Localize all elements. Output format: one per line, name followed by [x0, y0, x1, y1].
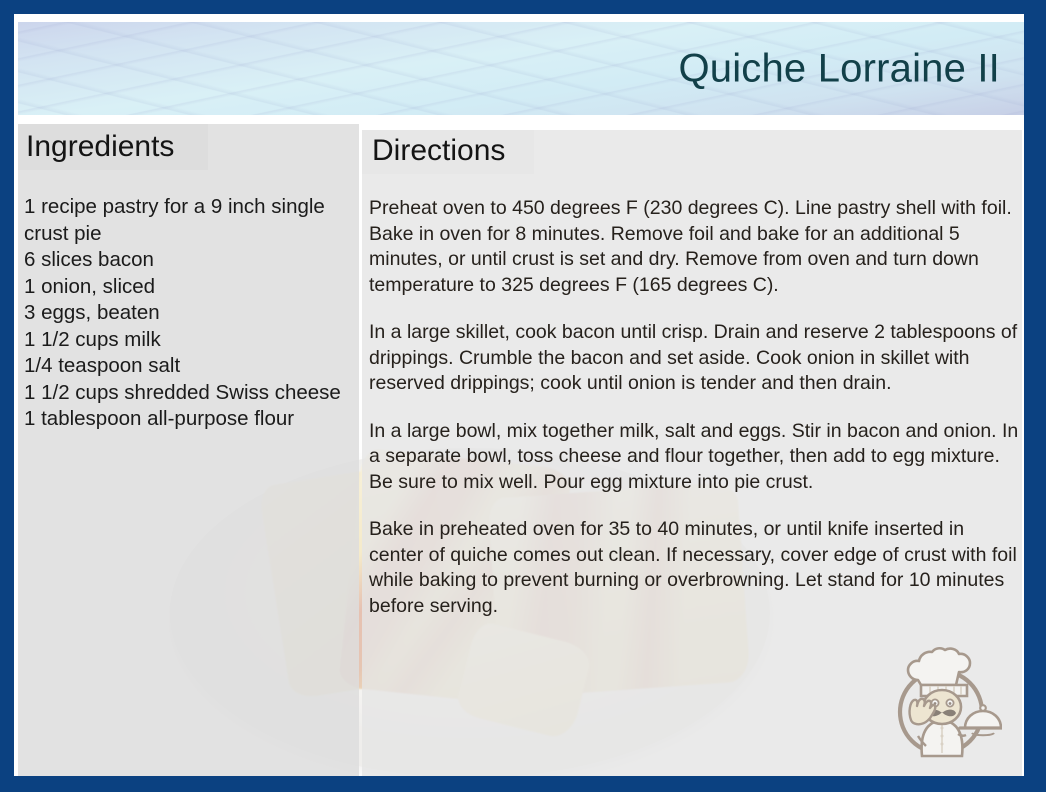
ingredient-item: 6 slices bacon: [24, 247, 350, 274]
ingredients-list-items: 1 recipe pastry for a 9 inch single crus…: [24, 194, 350, 433]
recipe-title: Quiche Lorraine II: [678, 46, 1000, 91]
direction-step: In a large bowl, mix together milk, salt…: [369, 419, 1019, 496]
ingredients-heading: Ingredients: [26, 130, 174, 164]
direction-step: In a large skillet, cook bacon until cri…: [369, 320, 1019, 397]
title-banner: Quiche Lorraine II: [18, 22, 1024, 115]
ingredient-item: 1/4 teaspoon salt: [24, 353, 350, 380]
ingredient-item: 1 recipe pastry for a 9 inch single crus…: [24, 194, 350, 247]
ingredient-item: 1 onion, sliced: [24, 274, 350, 301]
directions-heading: Directions: [372, 134, 505, 168]
ingredient-item: 1 tablespoon all-purpose flour: [24, 406, 350, 433]
direction-step: Bake in preheated oven for 35 to 40 minu…: [369, 517, 1019, 619]
chef-mascot-logo: [880, 644, 1002, 766]
card-inner: Quiche Lorraine II Ingredients 1 recipe …: [14, 14, 1024, 776]
ingredient-item: 1 1/2 cups shredded Swiss cheese: [24, 380, 350, 407]
ingredient-item: 3 eggs, beaten: [24, 300, 350, 327]
serving-cloche-icon: [960, 705, 1002, 735]
recipe-card: Quiche Lorraine II Ingredients 1 recipe …: [0, 0, 1046, 792]
ingredient-item: 1 1/2 cups milk: [24, 327, 350, 354]
directions-steps: Preheat oven to 450 degrees F (230 degre…: [369, 196, 1019, 619]
ingredients-list: 1 recipe pastry for a 9 inch single crus…: [24, 194, 350, 433]
chef-hat-icon: [908, 648, 970, 696]
direction-step: Preheat oven to 450 degrees F (230 degre…: [369, 196, 1019, 298]
